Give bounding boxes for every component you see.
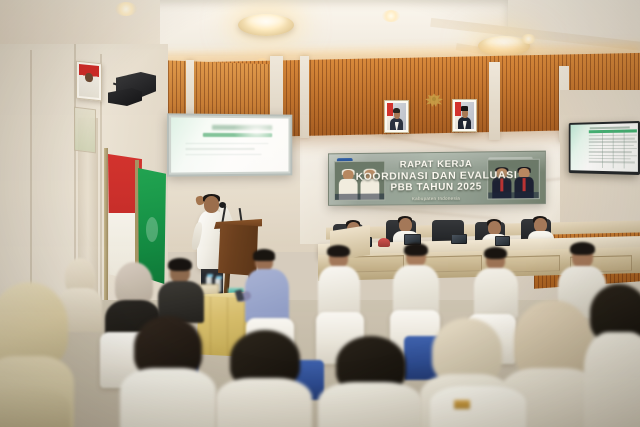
banner-text-block: RAPAT KERJA KOORDINASI DAN EVALUASI PBB … [349,159,525,201]
wall-pilaster [489,62,500,140]
attendee [318,248,360,318]
screen-glare [233,117,279,147]
attendee-uniform-foreground [430,386,526,427]
garuda-emblem-icon [423,92,445,108]
framed-poster [76,61,102,102]
president-portrait [384,100,409,133]
wall-pilaster [300,56,309,138]
projection-screen [167,113,292,176]
laptop-icon[interactable] [495,236,510,246]
ceiling-lamp-left [238,14,294,36]
laptop-icon[interactable] [451,234,467,244]
attendee-foreground [318,336,422,427]
flag-emblem-icon [146,217,158,243]
attendee-with-phone [245,252,289,326]
conference-room-photo: RAPAT KERJA KOORDINASI DAN EVALUASI PBB … [0,0,640,427]
event-backdrop-banner: RAPAT KERJA KOORDINASI DAN EVALUASI PBB … [328,151,546,206]
attendee-hijab-foreground [216,330,312,427]
downlight-icon [521,34,536,44]
wall-mounted-tv [569,121,640,175]
framed-notice-board [74,107,96,154]
banner-line-3: PBB TAHUN 2025 [349,181,525,194]
attendee [158,262,204,322]
vice-president-portrait [452,99,477,132]
microphone-icon [219,202,226,208]
banner-subtitle: Kabupaten Indonesia [349,195,525,202]
attendee [393,246,439,318]
downlight-icon [115,2,137,16]
attendee-foreground [120,316,216,427]
flower-arrangement [378,238,390,247]
rank-insignia-icon [454,400,470,409]
attendee-foreground [584,284,640,427]
downlight-icon [382,10,400,22]
attendee-foreground [0,390,70,427]
